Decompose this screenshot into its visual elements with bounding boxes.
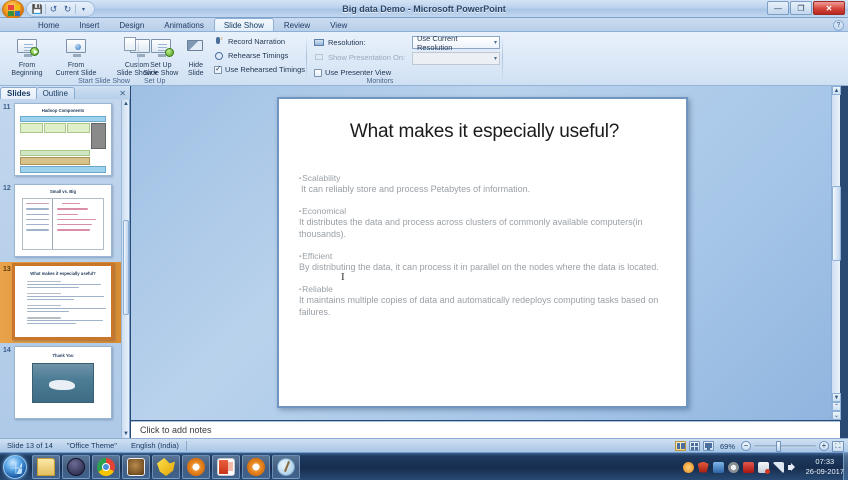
- slide-body-placeholder[interactable]: Scalability It can reliably store and pr…: [299, 173, 679, 329]
- ribbon-group-divider-3: [502, 35, 503, 81]
- thumb-title: What makes it especially useful?: [15, 271, 111, 276]
- network-tray-icon[interactable]: [773, 462, 784, 473]
- powerpoint-window: 💾 ↺ ↻ ▾ Big data Demo - Microsoft PowerP…: [0, 0, 848, 480]
- blue-app-tray-icon[interactable]: [713, 462, 724, 473]
- thumb-title: Thank You: [15, 353, 111, 358]
- taskbar-yellow-puzzle-app[interactable]: [152, 455, 180, 479]
- set-up-slide-show-icon: [148, 37, 174, 61]
- chevron-down-icon: ▾: [494, 39, 497, 46]
- stopwatch-icon: [214, 50, 225, 61]
- group-label-monitors: Monitors: [310, 78, 450, 85]
- clock-time: 07:33: [806, 457, 844, 467]
- folder-icon: [37, 458, 55, 476]
- set-up-slide-show-button[interactable]: Set UpSlide Show: [140, 34, 182, 78]
- slide-number: 11: [3, 104, 10, 111]
- resolution-icon: [314, 37, 325, 48]
- zoom-level[interactable]: 69%: [717, 442, 738, 451]
- next-slide-icon[interactable]: ⌄: [832, 411, 841, 420]
- from-beginning-label-1: From: [19, 62, 35, 69]
- use-rehearsed-timings-label: Use Rehearsed Timings: [225, 65, 305, 74]
- minimize-button[interactable]: —: [767, 1, 789, 15]
- scrollbar-thumb[interactable]: [832, 186, 841, 261]
- taskbar-orange-flower-app[interactable]: [182, 455, 210, 479]
- slide-preview: Small vs. Big: [14, 184, 112, 257]
- slides-outline-pane: Slides Outline ✕ 11 Hadoop Components: [0, 86, 130, 438]
- slide-preview: Hadoop Components: [14, 103, 112, 176]
- notes-placeholder: Click to add notes: [140, 425, 212, 435]
- rehearse-timings-label: Rehearse Timings: [228, 51, 288, 60]
- resolution-label-row: Resolution:: [314, 36, 412, 49]
- slides-pane-scrollbar[interactable]: ▲ ▼: [121, 100, 129, 438]
- flower-icon-2: [247, 458, 265, 476]
- zoom-slider[interactable]: [754, 445, 816, 448]
- tab-slide-show[interactable]: Slide Show: [214, 18, 274, 31]
- taskbar-powerpoint[interactable]: [212, 455, 240, 479]
- zoom-slider-handle[interactable]: [776, 441, 781, 452]
- scroll-up-icon[interactable]: ▲: [122, 100, 130, 108]
- rehearse-timings-button[interactable]: Rehearse Timings: [214, 49, 305, 62]
- thumb-title: Small vs. Big: [15, 189, 111, 194]
- slide-thumbnail-13[interactable]: 13 What makes it especially useful?: [0, 262, 122, 343]
- show-desktop-button[interactable]: [843, 453, 848, 480]
- ribbon-group-set-up: Set UpSlide Show HideSlide ♪ Record Narr…: [140, 32, 305, 86]
- slide-show-view-button[interactable]: [703, 441, 714, 451]
- close-pane-icon[interactable]: ✕: [119, 89, 126, 98]
- checkbox-icon: [314, 69, 322, 77]
- bullet-block-efficient: Efficient By distributing the data, it c…: [299, 251, 679, 273]
- ribbon-group-divider-1: [138, 35, 139, 81]
- maximize-button[interactable]: ❐: [790, 1, 812, 15]
- hide-slide-icon: [183, 37, 209, 61]
- slide-number: 13: [3, 266, 11, 273]
- ribbon-group-monitors: Resolution: Show Presentation On: Use Pr…: [310, 32, 500, 86]
- hide-slide-button[interactable]: HideSlide: [182, 34, 210, 78]
- bullet-block-scalability: Scalability It can reliably store and pr…: [299, 173, 679, 195]
- tab-insert[interactable]: Insert: [69, 18, 109, 31]
- status-bar: Slide 13 of 14 "Office Theme" English (I…: [0, 438, 848, 452]
- slide-preview: Thank You: [14, 346, 112, 419]
- group-label-set-up: Set Up: [140, 78, 305, 85]
- from-beginning-label-2: Beginning: [11, 70, 42, 77]
- slide-thumbnail-14[interactable]: 14 Thank You: [0, 343, 122, 424]
- normal-view-button[interactable]: [675, 441, 686, 451]
- tab-design[interactable]: Design: [109, 18, 154, 31]
- taskbar-paint-app[interactable]: [272, 455, 300, 479]
- language-indicator[interactable]: English (India): [124, 441, 186, 450]
- gray-gear-tray-icon[interactable]: [728, 462, 739, 473]
- set-up-label-1: Set Up: [150, 62, 171, 69]
- adobe-reader-tray-icon[interactable]: [743, 462, 754, 473]
- bullet-heading: Efficient: [299, 251, 679, 261]
- notes-pane[interactable]: Click to add notes: [131, 421, 840, 438]
- resolution-label: Resolution:: [328, 38, 366, 47]
- red-shield-tray-icon[interactable]: [698, 462, 709, 473]
- taskbar-app-buttons: [32, 455, 300, 479]
- chevron-down-icon-2: ▾: [494, 55, 497, 62]
- pane-tab-outline[interactable]: Outline: [36, 87, 75, 99]
- status-bar-right: 69% − + ⛶: [675, 439, 844, 453]
- from-beginning-button[interactable]: FromBeginning: [4, 34, 50, 78]
- set-up-label-2: Slide Show: [143, 70, 178, 77]
- scroll-up-icon[interactable]: ▲: [832, 86, 841, 95]
- powerpoint-icon: [217, 458, 235, 476]
- window-title: Big data Demo - Microsoft PowerPoint: [0, 0, 848, 18]
- bullet-heading: Scalability: [299, 173, 679, 183]
- checkbox-icon: [214, 66, 222, 74]
- slide-area-scrollbar[interactable]: ▲ ▼ ⌃ ⌄: [831, 86, 840, 420]
- slide-thumbnail-12[interactable]: 12 Small vs. Big: [0, 181, 122, 262]
- bullet-heading: Reliable: [299, 284, 679, 294]
- slide-thumbnail-11[interactable]: 11 Hadoop Components: [0, 100, 122, 181]
- pane-tab-strip: Slides Outline ✕: [0, 86, 130, 99]
- text-cursor-icon: [341, 271, 342, 284]
- game-icon: [127, 458, 145, 476]
- ribbon: FromBeginning FromCurrent Slide CustomSl…: [0, 32, 848, 86]
- bullet-block-economical: Economical It distributes the data and p…: [299, 206, 679, 240]
- scrollbar-bottom-controls[interactable]: ▼ ⌃ ⌄: [832, 393, 841, 420]
- theme-name[interactable]: "Office Theme": [60, 441, 124, 450]
- taskbar-game-app[interactable]: [122, 455, 150, 479]
- from-beginning-icon: [14, 37, 40, 61]
- fit-slide-to-window-button[interactable]: ⛶: [832, 441, 844, 452]
- from-current-label-1: From: [68, 62, 84, 69]
- use-presenter-view-label: Use Presenter View: [325, 68, 391, 77]
- slide-number: 12: [3, 185, 11, 192]
- puzzle-icon: [157, 458, 175, 476]
- taskbar-windows-explorer[interactable]: [32, 455, 60, 479]
- tab-view[interactable]: View: [320, 18, 357, 31]
- windows-taskbar: 07:33 26-09-2017: [0, 452, 848, 480]
- taskbar-media-player[interactable]: [62, 455, 90, 479]
- slide-sorter-view-button[interactable]: [689, 441, 700, 451]
- chrome-icon: [97, 458, 115, 476]
- resolution-combo-value: Use Current Resolution: [417, 34, 494, 52]
- scroll-down-icon[interactable]: ▼: [832, 393, 841, 402]
- bullet-block-reliable: Reliable It maintains multiple copies of…: [299, 284, 679, 318]
- clock-date: 26-09-2017: [806, 467, 844, 477]
- title-bar: 💾 ↺ ↻ ▾ Big data Demo - Microsoft PowerP…: [0, 0, 848, 18]
- from-current-slide-icon: [63, 37, 89, 61]
- start-button[interactable]: [3, 455, 27, 479]
- show-presentation-on-combo: ▾: [412, 52, 500, 65]
- slide-title[interactable]: What makes it especially useful?: [299, 121, 670, 143]
- volume-tray-icon[interactable]: [788, 462, 799, 473]
- slide-indicator: Slide 13 of 14: [0, 441, 60, 450]
- close-button[interactable]: ✕: [813, 1, 845, 15]
- scrollbar-thumb[interactable]: [123, 220, 129, 315]
- flower-icon: [187, 458, 205, 476]
- slide-editing-area: What makes it especially useful? Scalabi…: [131, 86, 840, 420]
- bullet-text: It distributes the data and process acro…: [299, 216, 679, 240]
- orange-circle-tray-icon[interactable]: [683, 462, 694, 473]
- status-divider: [186, 441, 187, 451]
- pane-tab-slides[interactable]: Slides: [0, 87, 38, 99]
- tab-animations[interactable]: Animations: [154, 18, 214, 31]
- zoom-out-button[interactable]: −: [741, 441, 751, 451]
- sync-tray-icon[interactable]: [758, 462, 769, 473]
- presentation-monitor-icon: [314, 52, 325, 63]
- microphone-icon: ♪: [214, 36, 225, 47]
- record-narration-label: Record Narration: [228, 37, 285, 46]
- scroll-down-icon[interactable]: ▼: [122, 430, 130, 438]
- from-current-slide-button[interactable]: FromCurrent Slide: [50, 34, 102, 78]
- thumb-title: Hadoop Components: [15, 108, 111, 113]
- from-current-label-2: Current Slide: [56, 70, 97, 77]
- tab-home[interactable]: Home: [28, 18, 69, 31]
- bullet-heading: Economical: [299, 206, 679, 216]
- ribbon-tab-strip: Home Insert Design Animations Slide Show…: [0, 18, 848, 32]
- use-rehearsed-timings-checkbox[interactable]: Use Rehearsed Timings: [214, 63, 305, 76]
- bullet-text: By distributing the data, it can process…: [299, 261, 679, 273]
- window-controls: — ❐ ✕: [767, 1, 845, 15]
- paint-icon: [277, 458, 295, 476]
- tab-review[interactable]: Review: [274, 18, 320, 31]
- slide-preview: What makes it especially useful?: [12, 263, 114, 340]
- bullet-text: It can reliably store and process Petaby…: [299, 183, 679, 195]
- show-presentation-on-label: Show Presentation On:: [328, 53, 405, 62]
- zoom-in-button[interactable]: +: [819, 441, 829, 451]
- slide-number: 14: [3, 347, 11, 354]
- previous-slide-icon[interactable]: ⌃: [832, 402, 841, 411]
- current-slide[interactable]: What makes it especially useful? Scalabi…: [277, 97, 688, 408]
- thumb-image: [32, 363, 94, 403]
- record-narration-button[interactable]: ♪ Record Narration: [214, 35, 305, 48]
- media-player-icon: [67, 458, 85, 476]
- system-tray: 07:33 26-09-2017: [683, 453, 844, 480]
- show-presentation-on-label-row: Show Presentation On:: [314, 51, 412, 64]
- hide-slide-label-1: Hide: [189, 62, 203, 69]
- bullet-text: It maintains multiple copies of data and…: [299, 294, 679, 318]
- taskbar-orange-flower-app-2[interactable]: [242, 455, 270, 479]
- ribbon-group-divider-2: [306, 35, 307, 81]
- slide-thumbnail-list: 11 Hadoop Components: [0, 100, 122, 438]
- resolution-combo[interactable]: Use Current Resolution ▾: [412, 36, 500, 49]
- hide-slide-label-2: Slide: [188, 70, 204, 77]
- help-icon[interactable]: ?: [833, 20, 844, 31]
- taskbar-clock[interactable]: 07:33 26-09-2017: [803, 457, 844, 477]
- taskbar-google-chrome[interactable]: [92, 455, 120, 479]
